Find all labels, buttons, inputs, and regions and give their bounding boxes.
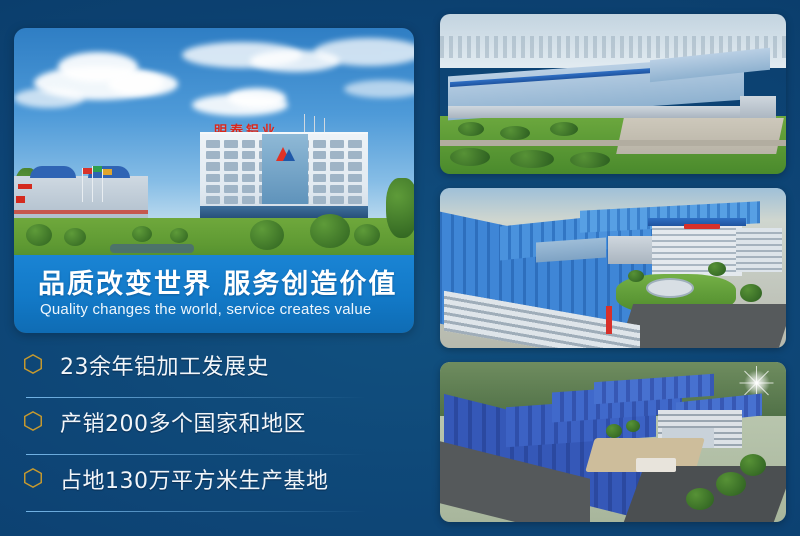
fact-item-history[interactable]: 23余年铝加工发展史 (14, 341, 414, 398)
banner-headline-cn: 品质改变世界 服务创造价值 (38, 262, 397, 301)
promo-page: 明泰铝业 (0, 0, 800, 530)
hexagon-bullet-icon (22, 410, 46, 434)
hero-card[interactable]: 明泰铝业 (14, 28, 414, 333)
factory-aerial-photo-2[interactable] (440, 188, 786, 348)
fact-divider (26, 511, 366, 512)
fact-item-area[interactable]: 占地130万平方米生产基地 (14, 455, 414, 512)
sun-flare-icon (744, 370, 770, 396)
fact-label: 23余年铝加工发展史 (60, 349, 269, 381)
water-feature (110, 244, 194, 253)
factory-aerial-photo-1[interactable] (440, 14, 786, 174)
fact-label: 产销200多个国家和地区 (60, 406, 306, 438)
banner-subline-en: Quality changes the world, service creat… (40, 301, 371, 318)
company-logo-icon (274, 146, 296, 162)
factory-rendering-photo-3[interactable] (440, 362, 786, 522)
hexagon-bullet-icon (22, 467, 46, 491)
building-base-band (200, 206, 368, 218)
hero-banner: 品质改变世界 服务创造价值 Quality changes the world,… (14, 255, 414, 333)
glass-facade (262, 134, 308, 204)
facts-list: 23余年铝加工发展史 产销200多个国家和地区 占地130万平方米生产基地 (14, 341, 414, 512)
workshop-building (14, 176, 148, 222)
gallery-column (440, 14, 786, 536)
left-column: 明泰铝业 (14, 28, 414, 333)
fact-item-markets[interactable]: 产销200多个国家和地区 (14, 398, 414, 455)
fact-label: 占地130万平方米生产基地 (60, 463, 329, 495)
hexagon-bullet-icon (22, 353, 46, 377)
